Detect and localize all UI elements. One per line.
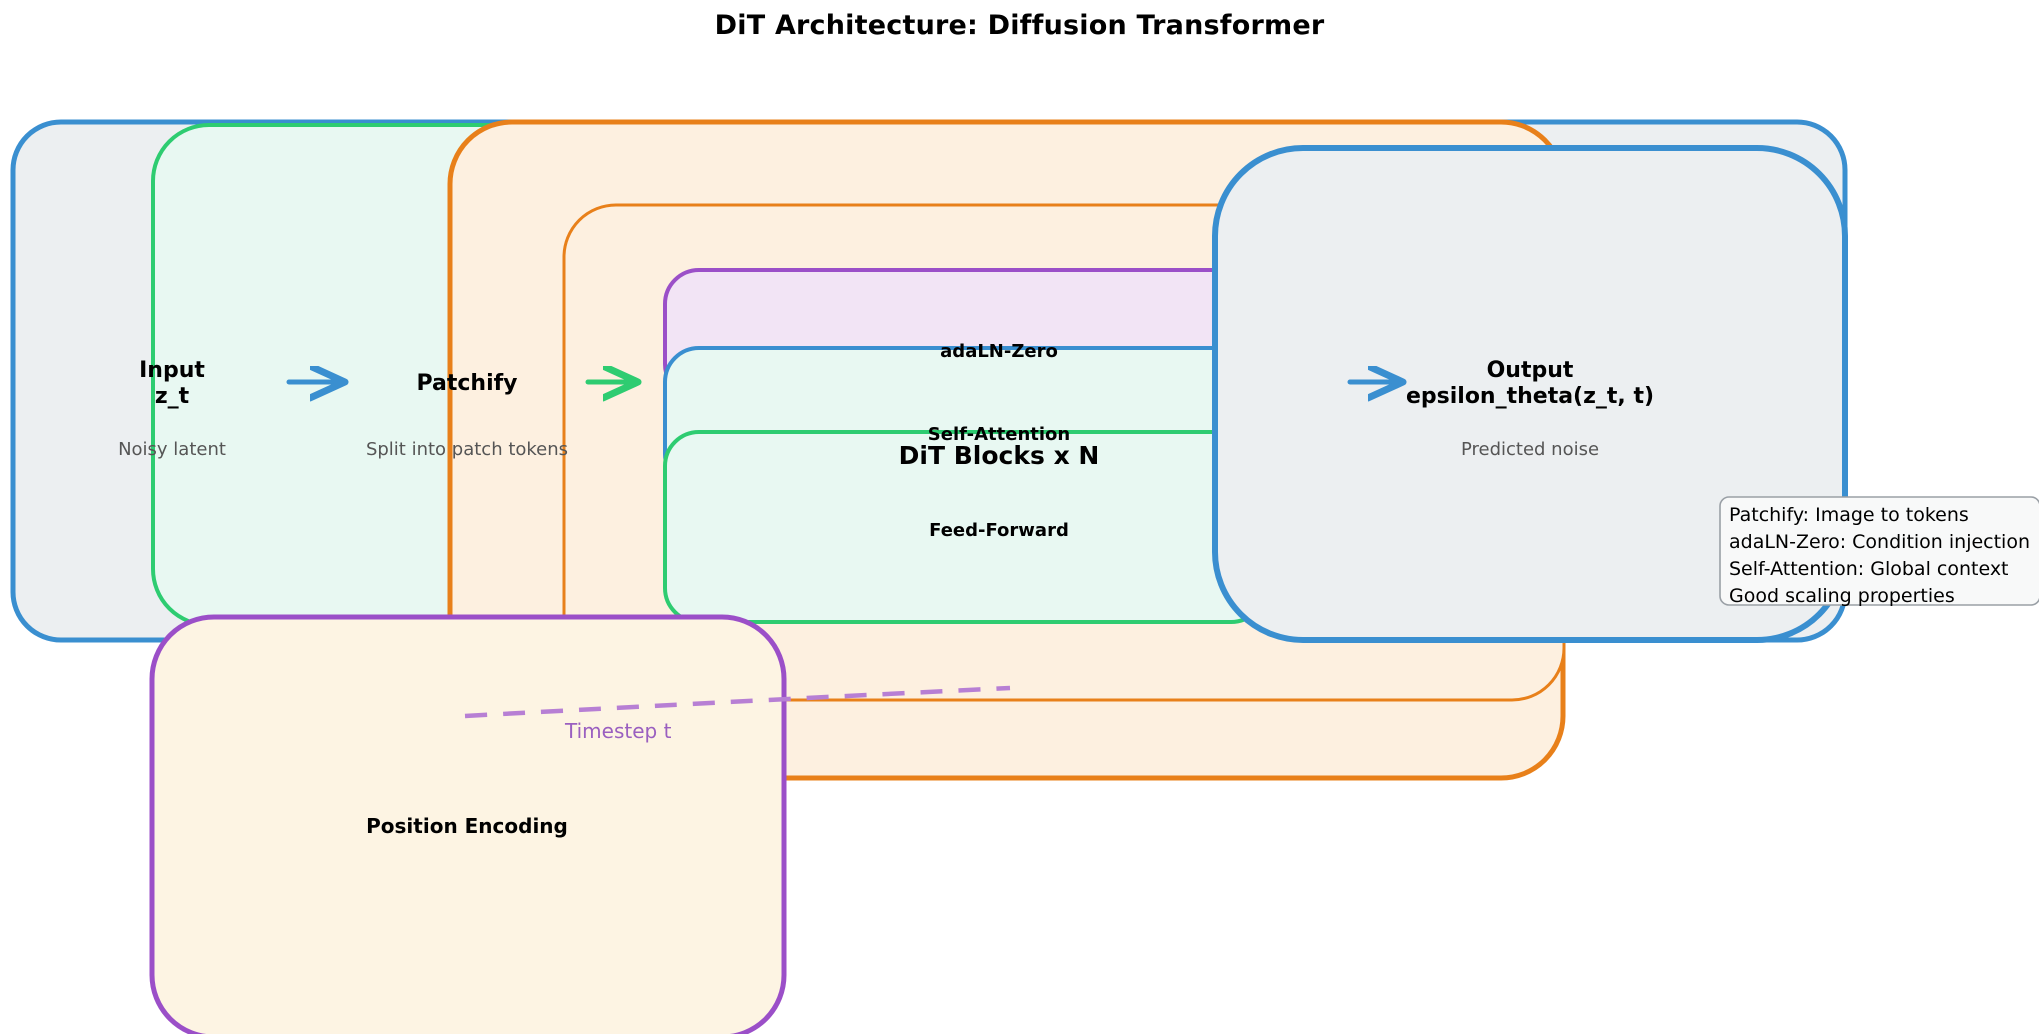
node-patchify-label: Patchify — [416, 371, 517, 396]
node-output-sublabel: Predicted noise — [1461, 439, 1599, 460]
node-feed-forward-labels: Feed-Forward — [929, 520, 1069, 541]
edge-timestep-label: Timestep t — [564, 719, 672, 743]
node-adaln-zero-labels: adaLN-Zero — [940, 341, 1058, 362]
node-output-label-line2: epsilon_theta(z_t, t) — [1406, 384, 1654, 409]
node-position-encoding-labels: Position Encoding — [366, 814, 568, 838]
node-input-label-line2: z_t — [155, 384, 190, 409]
node-dit-blocks-labels: DiT Blocks x N — [899, 441, 1100, 470]
node-input-label-line1: Input — [139, 358, 205, 383]
node-output-label-line1: Output — [1487, 358, 1574, 383]
diagram-stage: DiT Architecture: Diffusion Transformer — [0, 0, 2039, 1034]
legend-box: Patchify: Image to tokens adaLN-Zero: Co… — [1720, 497, 2039, 607]
legend-line-4: Good scaling properties — [1729, 585, 1955, 607]
legend-line-2: adaLN-Zero: Condition injection — [1729, 531, 2030, 553]
node-adaln-zero-label: adaLN-Zero — [940, 341, 1058, 362]
architecture-diagram: Timestep t Input z_t Noisy latent Patchi… — [0, 0, 2039, 1034]
node-input-sublabel: Noisy latent — [118, 439, 226, 460]
legend-line-3: Self-Attention: Global context — [1729, 558, 2009, 580]
legend-line-1: Patchify: Image to tokens — [1729, 504, 1969, 526]
node-position-encoding-label: Position Encoding — [366, 814, 568, 838]
node-feed-forward-label: Feed-Forward — [929, 520, 1069, 541]
node-patchify-sublabel: Split into patch tokens — [366, 439, 568, 460]
node-dit-blocks-label: DiT Blocks x N — [899, 441, 1100, 470]
